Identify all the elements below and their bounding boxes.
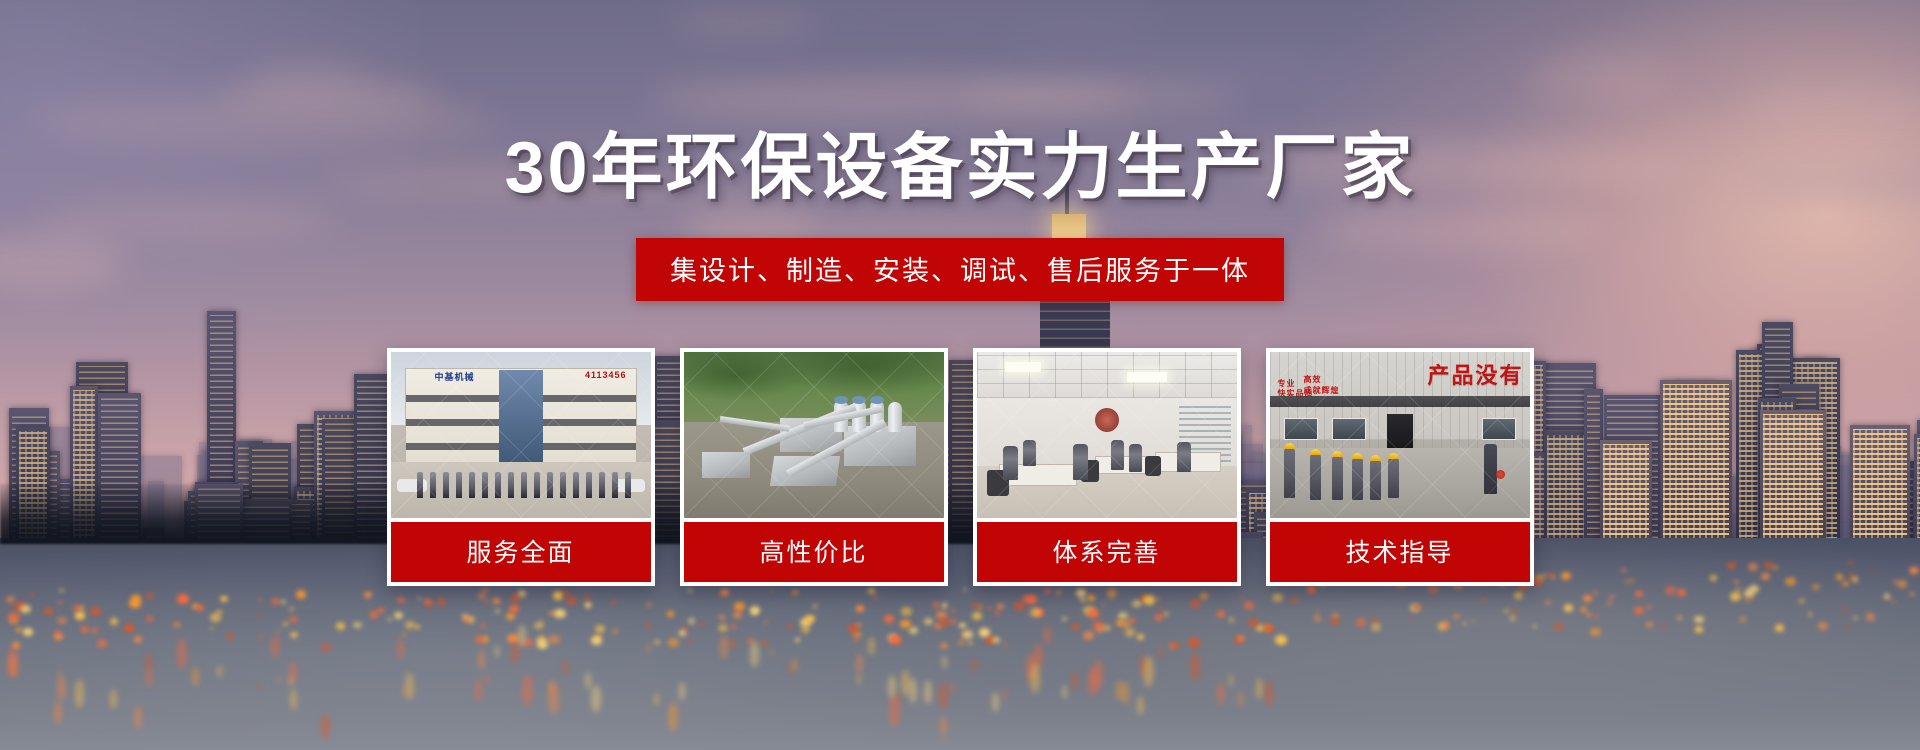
feature-card-service[interactable]: 中基机械 4113456 服务全面 (387, 348, 655, 586)
subtitle-badge: 集设计、制造、安装、调试、售后服务于一体 (636, 238, 1284, 301)
card-label-guidance: 技术指导 (1270, 522, 1530, 582)
card4-slogan-4: 成就辉煌 (1304, 385, 1340, 396)
hero-banner: 30年环保设备实力生产厂家 集设计、制造、安装、调试、售后服务于一体 中基机械 … (0, 0, 1920, 750)
card-label-system: 体系完善 (977, 522, 1237, 582)
card-label-service: 服务全面 (391, 522, 651, 582)
card-photo-office-interior (977, 352, 1237, 518)
card-label-value: 高性价比 (684, 522, 944, 582)
card-photo-office-building: 中基机械 4113456 (391, 352, 651, 518)
feature-card-list: 中基机械 4113456 服务全面 (0, 348, 1920, 586)
feature-card-value[interactable]: 高性价比 (680, 348, 948, 586)
card1-phone-number: 4113456 (585, 370, 627, 380)
card4-slogan-2: 高效 (1304, 374, 1322, 385)
card-photo-plant-aerial (684, 352, 944, 518)
card1-company-sign: 中基机械 (435, 370, 475, 383)
card-photo-factory-workers: 产品没有 专业 高效 快实品质 成就辉煌 (1270, 352, 1530, 518)
feature-card-guidance[interactable]: 产品没有 专业 高效 快实品质 成就辉煌 技术指导 (1266, 348, 1534, 586)
card4-wall-sign: 产品没有 (1427, 358, 1523, 390)
feature-card-system[interactable]: 体系完善 (973, 348, 1241, 586)
page-title: 30年环保设备实力生产厂家 (0, 108, 1920, 213)
